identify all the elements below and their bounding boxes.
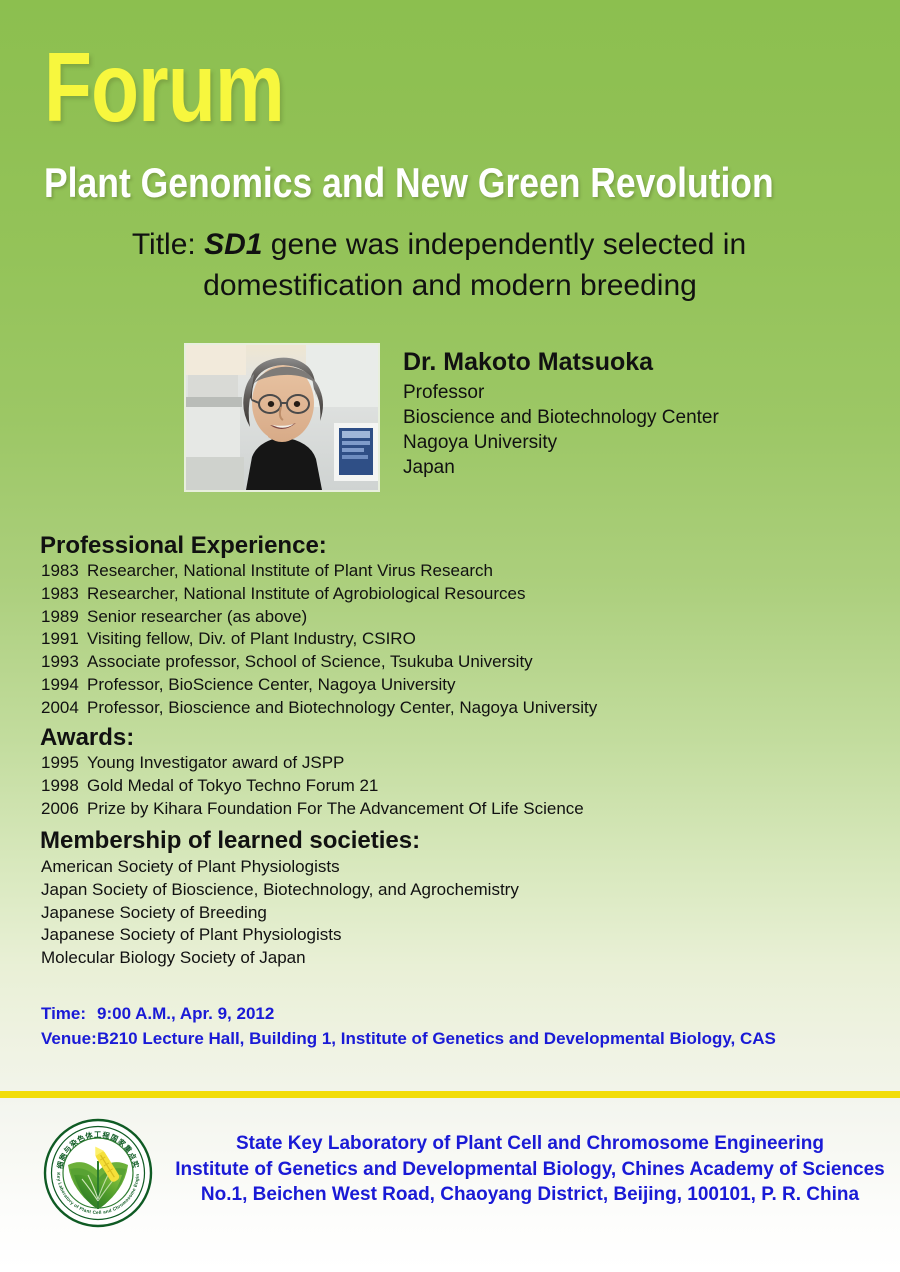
entry-year: 1998 [41, 775, 87, 798]
speaker-center: Bioscience and Biotechnology Center [403, 405, 719, 430]
list-item: 2004Professor, Bioscience and Biotechnol… [41, 697, 597, 720]
entry-text: Young Investigator award of JSPP [87, 753, 344, 772]
list-item: 2006Prize by Kihara Foundation For The A… [41, 798, 584, 821]
portrait-image [186, 345, 378, 490]
venue-value: B210 Lecture Hall, Building 1, Institute… [97, 1029, 776, 1048]
talk-title-line-2: domestification and modern breeding [40, 265, 860, 306]
professional-experience-list: 1983Researcher, National Institute of Pl… [41, 560, 597, 720]
speaker-info: Dr. Makoto Matsuoka Professor Bioscience… [403, 348, 719, 480]
list-item: Japanese Society of Plant Physiologists [41, 924, 519, 947]
list-item: 1998Gold Medal of Tokyo Techno Forum 21 [41, 775, 584, 798]
footer-line-1: State Key Laboratory of Plant Cell and C… [160, 1131, 900, 1157]
event-details: Time:9:00 A.M., Apr. 9, 2012 Venue:B210 … [41, 1001, 776, 1051]
entry-text: Visiting fellow, Div. of Plant Industry,… [87, 629, 416, 648]
membership-list: American Society of Plant Physiologists … [41, 856, 519, 970]
list-item: 1991Visiting fellow, Div. of Plant Indus… [41, 628, 597, 651]
entry-text: Associate professor, School of Science, … [87, 652, 533, 671]
list-item: Japanese Society of Breeding [41, 902, 519, 925]
entry-year: 1995 [41, 752, 87, 775]
entry-text: Professor, BioScience Center, Nagoya Uni… [87, 675, 456, 694]
entry-year: 1994 [41, 674, 87, 697]
list-item: 1993Associate professor, School of Scien… [41, 651, 597, 674]
list-item: Japan Society of Bioscience, Biotechnolo… [41, 879, 519, 902]
entry-year: 2004 [41, 697, 87, 720]
talk-title: Title: SD1 gene was independently select… [40, 224, 860, 306]
time-value: 9:00 A.M., Apr. 9, 2012 [97, 1004, 274, 1023]
footer-address: State Key Laboratory of Plant Cell and C… [160, 1131, 900, 1208]
entry-year: 1989 [41, 606, 87, 629]
entry-text: Prize by Kihara Foundation For The Advan… [87, 799, 584, 818]
event-time-row: Time:9:00 A.M., Apr. 9, 2012 [41, 1001, 776, 1026]
footer-line-2: Institute of Genetics and Developmental … [160, 1157, 900, 1183]
state-key-laboratory-logo-icon: 植物细胞与染色体工程国家重点实验室 State Key Laboratory o… [42, 1117, 154, 1229]
speaker-university: Nagoya University [403, 430, 719, 455]
speaker-name: Dr. Makoto Matsuoka [403, 348, 719, 377]
talk-title-rest: gene was independently selected in [271, 228, 746, 261]
speaker-photo [184, 343, 380, 492]
entry-year: 1983 [41, 583, 87, 606]
forum-subtitle: Plant Genomics and New Green Revolution [44, 160, 745, 206]
awards-list: 1995Young Investigator award of JSPP 199… [41, 752, 584, 820]
entry-text: Professor, Bioscience and Biotechnology … [87, 698, 597, 717]
speaker-country: Japan [403, 455, 719, 480]
yellow-divider [0, 1091, 900, 1098]
list-item: 1994Professor, BioScience Center, Nagoya… [41, 674, 597, 697]
membership-heading: Membership of learned societies: [40, 827, 420, 855]
awards-heading: Awards: [40, 724, 134, 752]
entry-text: Researcher, National Institute of Agrobi… [87, 584, 525, 603]
list-item: 1983Researcher, National Institute of Ag… [41, 583, 597, 606]
forum-heading: Forum [44, 38, 284, 136]
list-item: Molecular Biology Society of Japan [41, 947, 519, 970]
list-item: 1989Senior researcher (as above) [41, 606, 597, 629]
list-item: American Society of Plant Physiologists [41, 856, 519, 879]
entry-year: 1991 [41, 628, 87, 651]
footer-line-3: No.1, Beichen West Road, Chaoyang Distri… [160, 1182, 900, 1208]
venue-label: Venue: [41, 1026, 97, 1051]
event-venue-row: Venue:B210 Lecture Hall, Building 1, Ins… [41, 1026, 776, 1051]
entry-text: Researcher, National Institute of Plant … [87, 561, 493, 580]
talk-title-line-1: Title: SD1 gene was independently select… [18, 224, 860, 265]
list-item: 1983Researcher, National Institute of Pl… [41, 560, 597, 583]
entry-year: 1993 [41, 651, 87, 674]
time-label: Time: [41, 1001, 97, 1026]
talk-title-prefix: Title: [132, 228, 196, 261]
entry-year: 2006 [41, 798, 87, 821]
speaker-rank: Professor [403, 380, 719, 405]
entry-text: Senior researcher (as above) [87, 607, 307, 626]
list-item: 1995Young Investigator award of JSPP [41, 752, 584, 775]
seminar-poster: Forum Plant Genomics and New Green Revol… [0, 0, 900, 1272]
entry-year: 1983 [41, 560, 87, 583]
entry-text: Gold Medal of Tokyo Techno Forum 21 [87, 776, 378, 795]
gene-name: SD1 [204, 228, 262, 261]
professional-experience-heading: Professional Experience: [40, 532, 327, 560]
